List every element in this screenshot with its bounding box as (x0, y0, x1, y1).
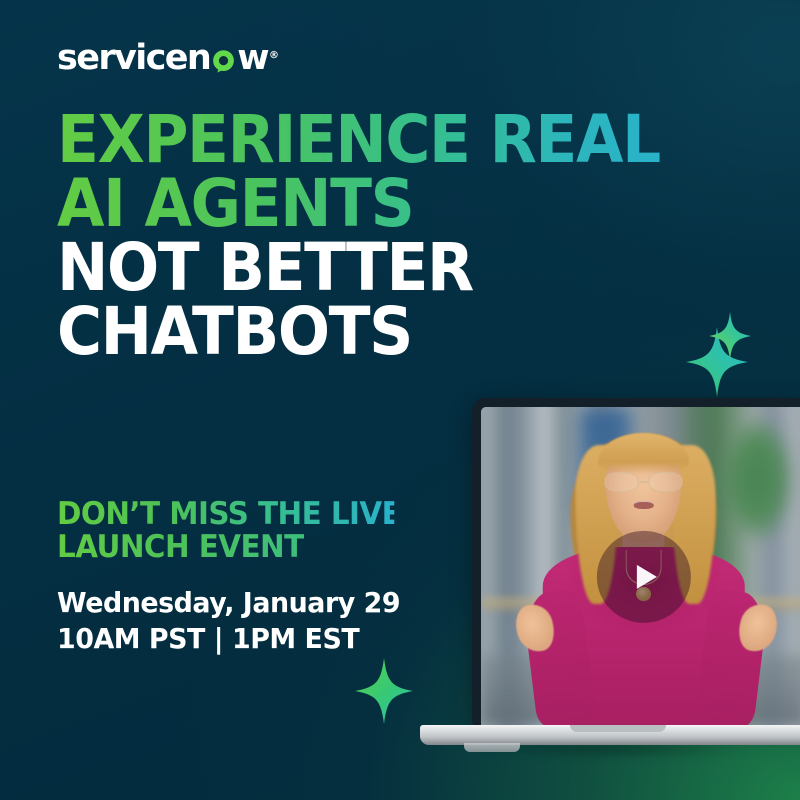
servicenow-o-icon (211, 49, 236, 74)
presenter-glasses (605, 472, 683, 492)
glasses-lens-right (649, 472, 683, 492)
headline-line-3: NOT BETTER (57, 236, 708, 300)
promo-poster: servicen w ® EXPERIENCE REAL AI AGENTS N… (0, 0, 800, 800)
headline-line-4: CHATBOTS (57, 300, 708, 364)
sparkle-icon (355, 658, 413, 724)
sparkle-icon (709, 312, 751, 360)
registered-trademark-icon: ® (269, 51, 277, 61)
logo-wordmark: servicen w ® (57, 41, 277, 76)
headline-block: EXPERIENCE REAL AI AGENTS NOT BETTER CHA… (57, 108, 757, 364)
glasses-lens-left (605, 472, 639, 492)
video-thumbnail[interactable] (481, 407, 800, 725)
laptop-lid (472, 398, 800, 725)
laptop-mockup (420, 398, 800, 763)
event-date: Wednesday, January 29 (57, 585, 470, 621)
logo-text-before: servicen (57, 41, 210, 76)
logo-text-after: w (237, 41, 268, 76)
play-button[interactable] (596, 531, 690, 623)
servicenow-logo[interactable]: servicen w ® (57, 40, 277, 76)
presenter-mouth (634, 501, 654, 509)
event-kicker-line-1: DON’T MISS THE LIVE (57, 498, 466, 531)
headline-line-1: EXPERIENCE REAL (57, 108, 708, 172)
event-time: 10AM PST | 1PM EST (57, 621, 470, 657)
laptop-base (420, 725, 800, 745)
laptop-foot (464, 743, 520, 752)
event-kicker-line-2: LAUNCH EVENT (57, 531, 466, 564)
glasses-bridge (640, 481, 648, 483)
presenter-fringe (598, 433, 689, 474)
play-icon (637, 565, 657, 589)
headline-line-2: AI AGENTS (57, 172, 708, 236)
